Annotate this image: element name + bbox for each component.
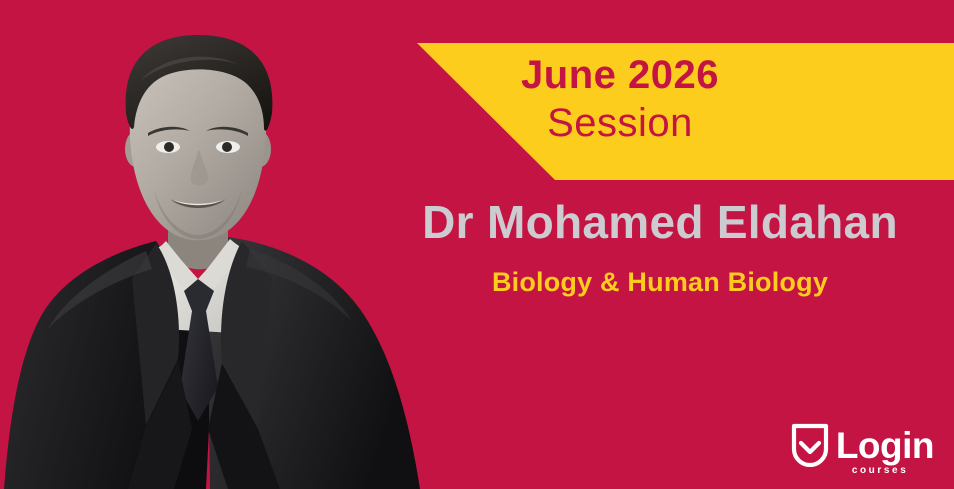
speaker-name: Dr Mohamed Eldahan — [370, 198, 950, 246]
logo-tagline: courses — [852, 466, 909, 476]
shield-check-icon — [791, 423, 829, 467]
speaker-subject: Biology & Human Biology — [370, 268, 950, 298]
session-month-label: June 2026 — [455, 55, 785, 95]
login-courses-logo[interactable]: Login courses — [791, 423, 934, 467]
logo-wordmark: Login — [836, 427, 934, 464]
logo-wordmark-group: Login courses — [836, 427, 934, 464]
promo-banner: June 2026 Session — [0, 0, 954, 489]
session-text-block: June 2026 Session — [455, 55, 785, 143]
speaker-block: Dr Mohamed Eldahan Biology & Human Biolo… — [370, 198, 950, 298]
session-word-label: Session — [455, 103, 785, 143]
